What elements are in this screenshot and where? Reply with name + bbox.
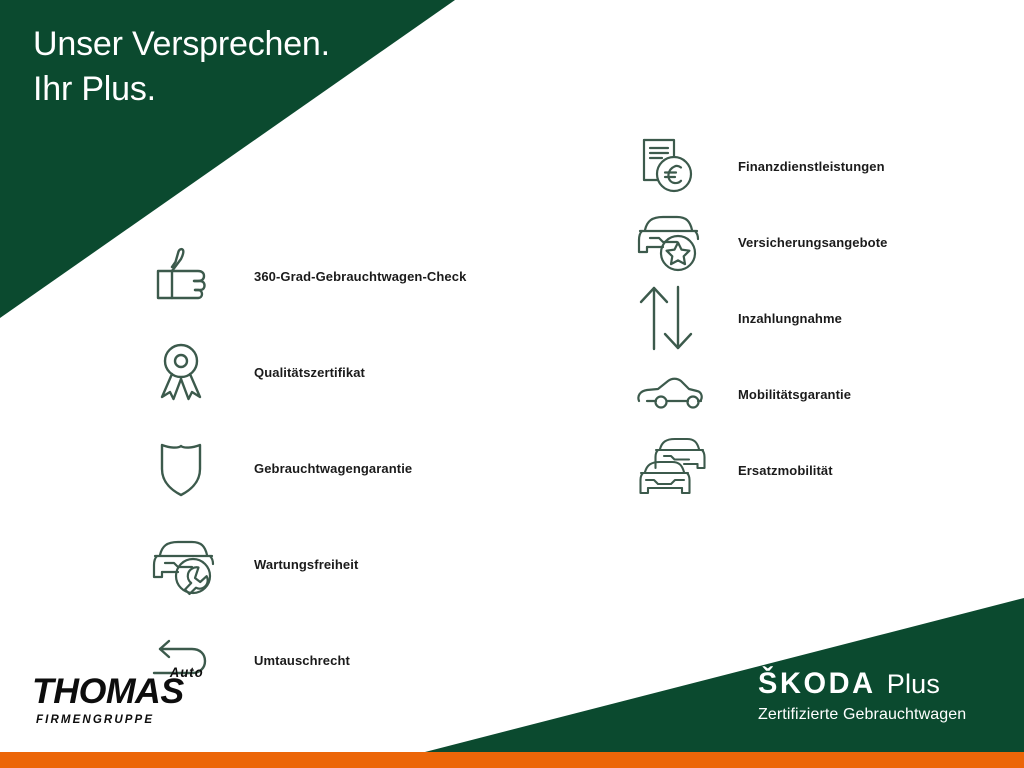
feature-item: Umtauschrecht — [148, 612, 588, 708]
headline-line-2: Ihr Plus. — [33, 67, 330, 112]
orange-footer-bar — [0, 752, 1024, 768]
feature-label: Gebrauchtwagengarantie — [254, 461, 412, 476]
up-down-arrows-icon — [634, 284, 710, 352]
feature-item: Versicherungsangebote — [634, 204, 1024, 280]
car-side-icon — [634, 360, 710, 428]
dealer-logo: Auto THOMAS FIRMENGRUPPE — [32, 664, 212, 730]
promo-banner: Unser Versprechen. Ihr Plus. 360-Grad-Ge… — [0, 0, 1024, 768]
car-star-icon — [634, 208, 710, 276]
skoda-wordmark: ŠKODA — [758, 670, 876, 700]
feature-label: Finanzdienstleistungen — [738, 159, 885, 174]
two-cars-icon — [634, 436, 710, 504]
page-title: Unser Versprechen. Ihr Plus. — [33, 22, 330, 112]
skoda-logo-row: ŠKODA Plus — [758, 670, 966, 699]
feature-label: Wartungsfreiheit — [254, 557, 358, 572]
feature-item: Gebrauchtwagengarantie — [148, 420, 588, 516]
feature-label: Inzahlungnahme — [738, 311, 842, 326]
car-wrench-icon — [148, 525, 230, 603]
headline-line-1: Unser Versprechen. — [33, 22, 330, 67]
feature-label: Ersatzmobilität — [738, 463, 833, 478]
feature-item: Wartungsfreiheit — [148, 516, 588, 612]
feature-label: Qualitätszertifikat — [254, 365, 365, 380]
shield-icon — [148, 429, 230, 507]
thumbs-up-icon — [148, 237, 230, 315]
dealer-logo-firmengruppe: FIRMENGRUPPE — [36, 712, 154, 726]
feature-item: 360-Grad-Gebrauchtwagen-Check — [148, 228, 588, 324]
skoda-plus-label: Plus — [887, 671, 940, 698]
feature-item: Inzahlungnahme — [634, 280, 1024, 356]
feature-label: Versicherungsangebote — [738, 235, 887, 250]
feature-list-right: Finanzdienstleistungen Versicherungsange… — [634, 128, 1024, 508]
feature-label: Mobilitätsgarantie — [738, 387, 851, 402]
award-ribbon-icon — [148, 333, 230, 411]
skoda-subtitle: Zertifizierte Gebrauchtwagen — [758, 706, 966, 724]
skoda-plus-logo: ŠKODA Plus Zertifizierte Gebrauchtwagen — [758, 670, 966, 724]
feature-item: Ersatzmobilität — [634, 432, 1024, 508]
feature-item: Finanzdienstleistungen — [634, 128, 1024, 204]
feature-item: Qualitätszertifikat — [148, 324, 588, 420]
feature-label: Umtauschrecht — [254, 653, 350, 668]
feature-item: Mobilitätsgarantie — [634, 356, 1024, 432]
feature-list-left: 360-Grad-Gebrauchtwagen-Check Qualitätsz… — [148, 228, 588, 708]
document-euro-icon — [634, 132, 710, 200]
dealer-logo-thomas: THOMAS — [32, 674, 184, 709]
feature-label: 360-Grad-Gebrauchtwagen-Check — [254, 269, 466, 284]
